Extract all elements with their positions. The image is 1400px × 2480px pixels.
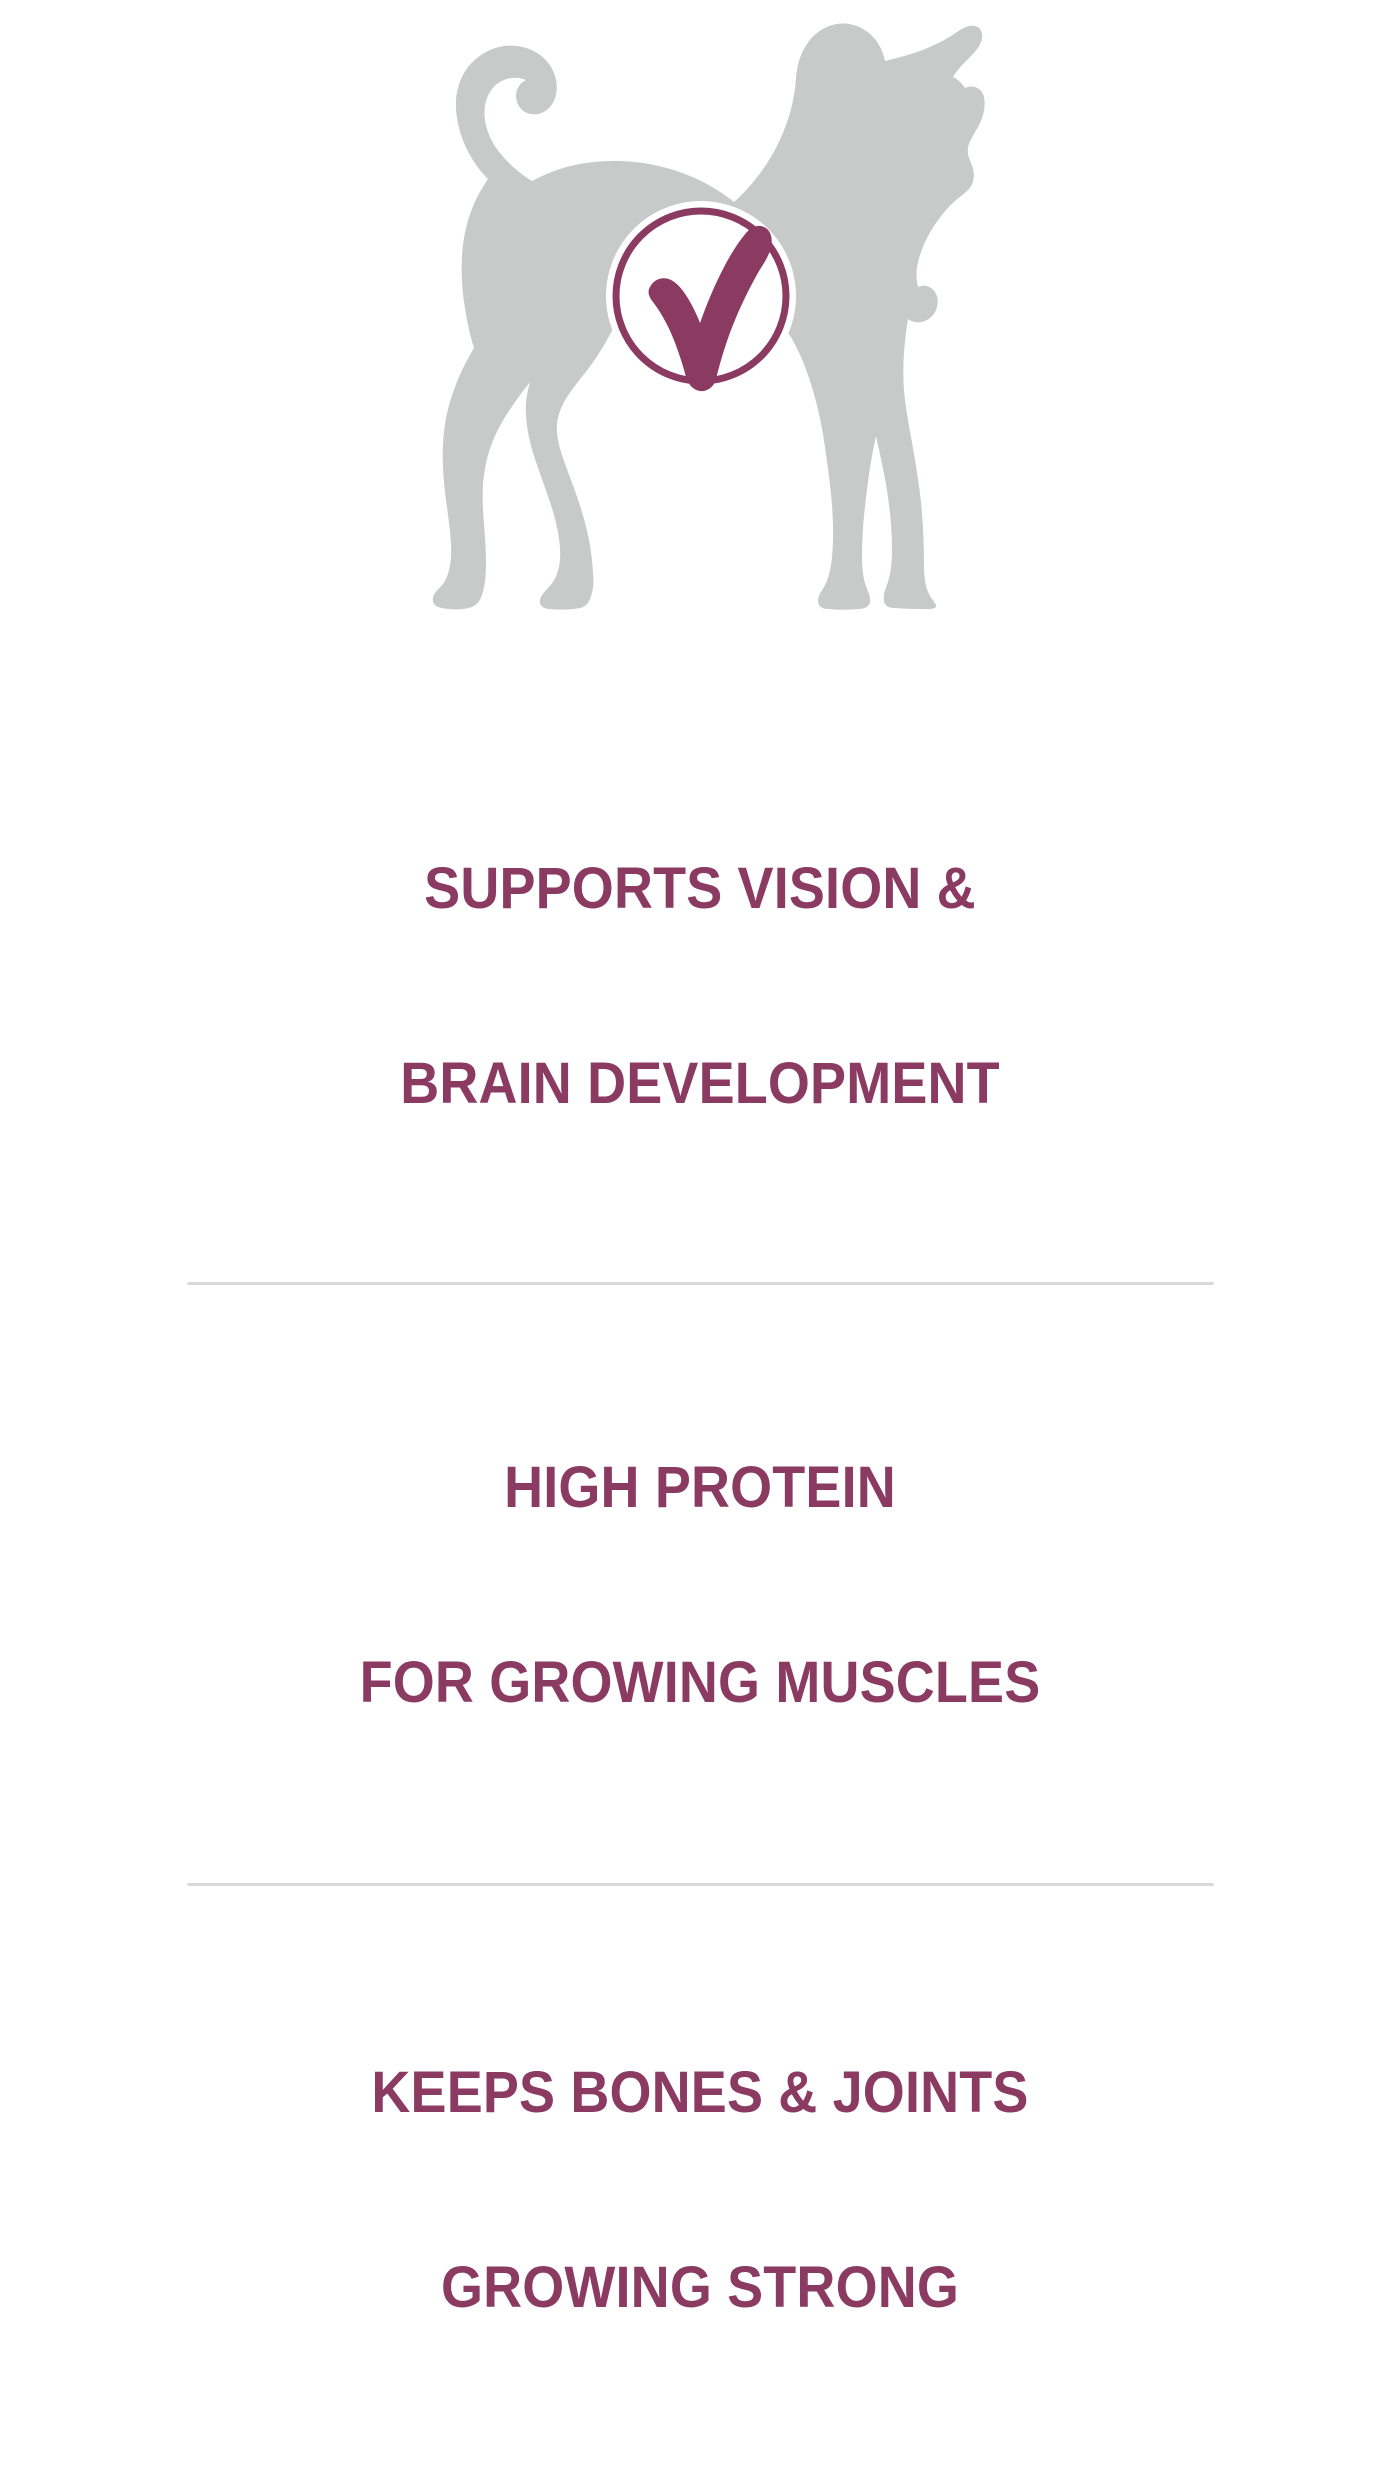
product-benefits-panel: SUPPORTS VISION & BRAIN DEVELOPMENT HIGH… [0,0,1400,1400]
benefit-line: BRAIN DEVELOPMENT [49,1051,1351,1116]
benefit-line: GROWING STRONG [49,2255,1351,2320]
benefit-item-bones-joints: KEEPS BONES & JOINTS GROWING STRONG [49,1886,1351,2480]
hero-illustration [0,0,1400,690]
benefit-line: KEEPS BONES & JOINTS [49,2060,1351,2125]
benefit-line: SUPPORTS VISION & [49,856,1351,921]
benefit-line: HIGH PROTEIN [49,1455,1351,1520]
benefit-item-high-protein: HIGH PROTEIN FOR GROWING MUSCLES [49,1285,1351,1883]
benefit-item-vision-brain: SUPPORTS VISION & BRAIN DEVELOPMENT [49,690,1351,1282]
benefits-list: SUPPORTS VISION & BRAIN DEVELOPMENT HIGH… [0,690,1400,2480]
benefit-line: FOR GROWING MUSCLES [49,1650,1351,1715]
